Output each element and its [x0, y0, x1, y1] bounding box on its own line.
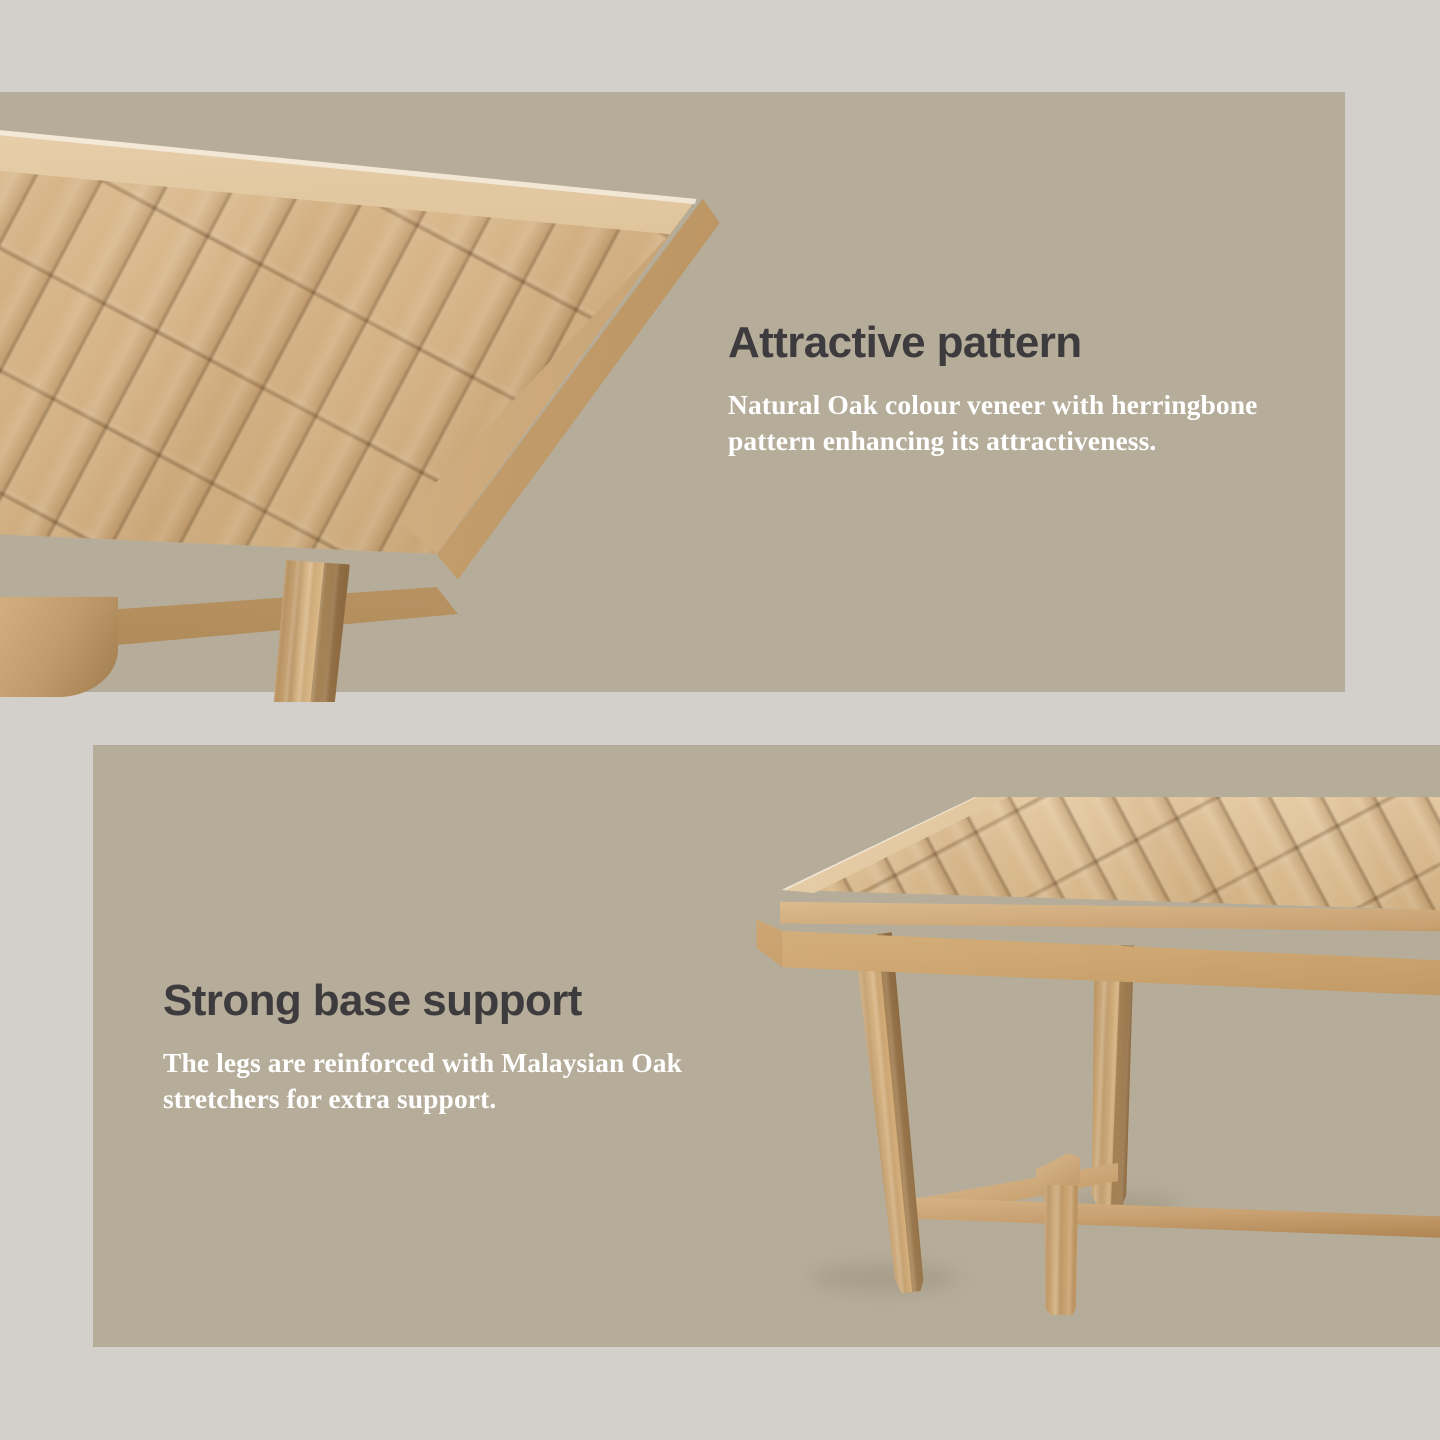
feature-text-attractive-pattern: Attractive pattern Natural Oak colour ve… — [728, 320, 1318, 460]
feature-text-strong-base-support: Strong base support The legs are reinfor… — [163, 978, 723, 1118]
feature-heading: Strong base support — [163, 978, 723, 1025]
product-photo-table-base — [640, 745, 1440, 1347]
feature-body-text: Natural Oak colour veneer with herringbo… — [728, 387, 1318, 460]
stretcher-centre-post — [1042, 1185, 1078, 1315]
product-photo-table-corner — [0, 92, 800, 702]
leg-contact-shadow — [810, 1265, 960, 1291]
table-top-rounded-corner — [0, 597, 118, 697]
feature-heading: Attractive pattern — [728, 320, 1318, 367]
feature-body-text: The legs are reinforced with Malaysian O… — [163, 1045, 723, 1118]
